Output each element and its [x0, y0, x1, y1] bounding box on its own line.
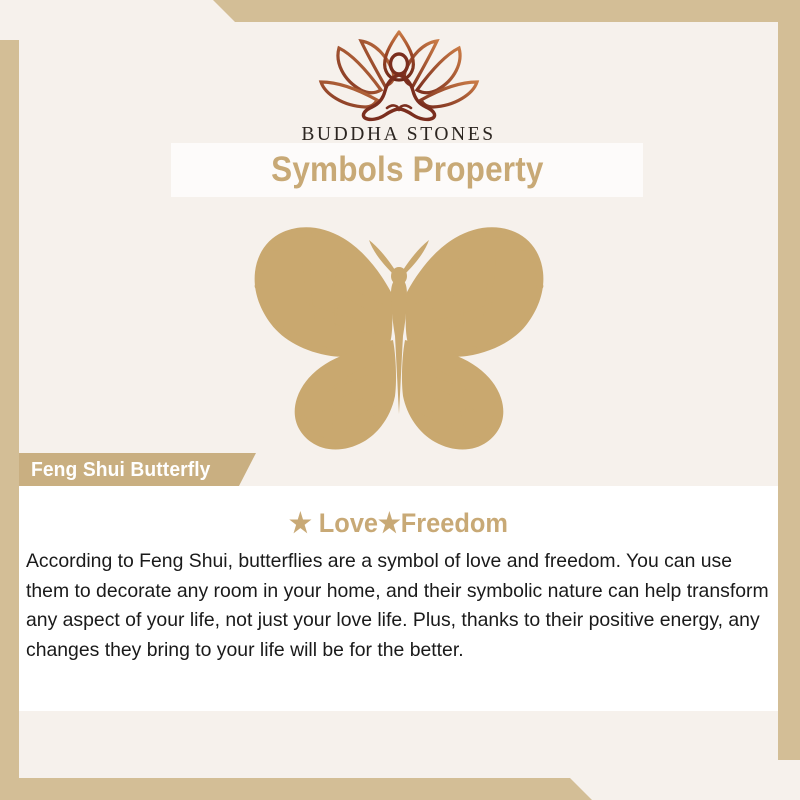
butterfly-illustration [19, 214, 778, 454]
symbols-property-poster: BUDDHA STONES Symbols Property [0, 0, 800, 800]
status-badge: Feng Shui Butterfly [19, 453, 256, 486]
lotus-meditation-icon [313, 28, 485, 122]
frame-bottom-band [0, 778, 800, 800]
page-title: Symbols Property [271, 150, 543, 190]
frame-right-band [778, 0, 800, 760]
poster-panel: BUDDHA STONES Symbols Property [19, 22, 778, 778]
frame-top-band [0, 0, 800, 22]
frame-left-band [0, 40, 19, 800]
banner-label: Feng Shui Butterfly [31, 458, 211, 482]
brand-logo: BUDDHA STONES [19, 28, 778, 146]
content-paragraph: According to Feng Shui, butterflies are … [19, 547, 778, 665]
butterfly-icon [213, 214, 585, 454]
content-card: ★ Love★Freedom According to Feng Shui, b… [19, 486, 778, 711]
title-bar: Symbols Property [171, 143, 643, 197]
content-headline: ★ Love★Freedom [42, 486, 755, 539]
